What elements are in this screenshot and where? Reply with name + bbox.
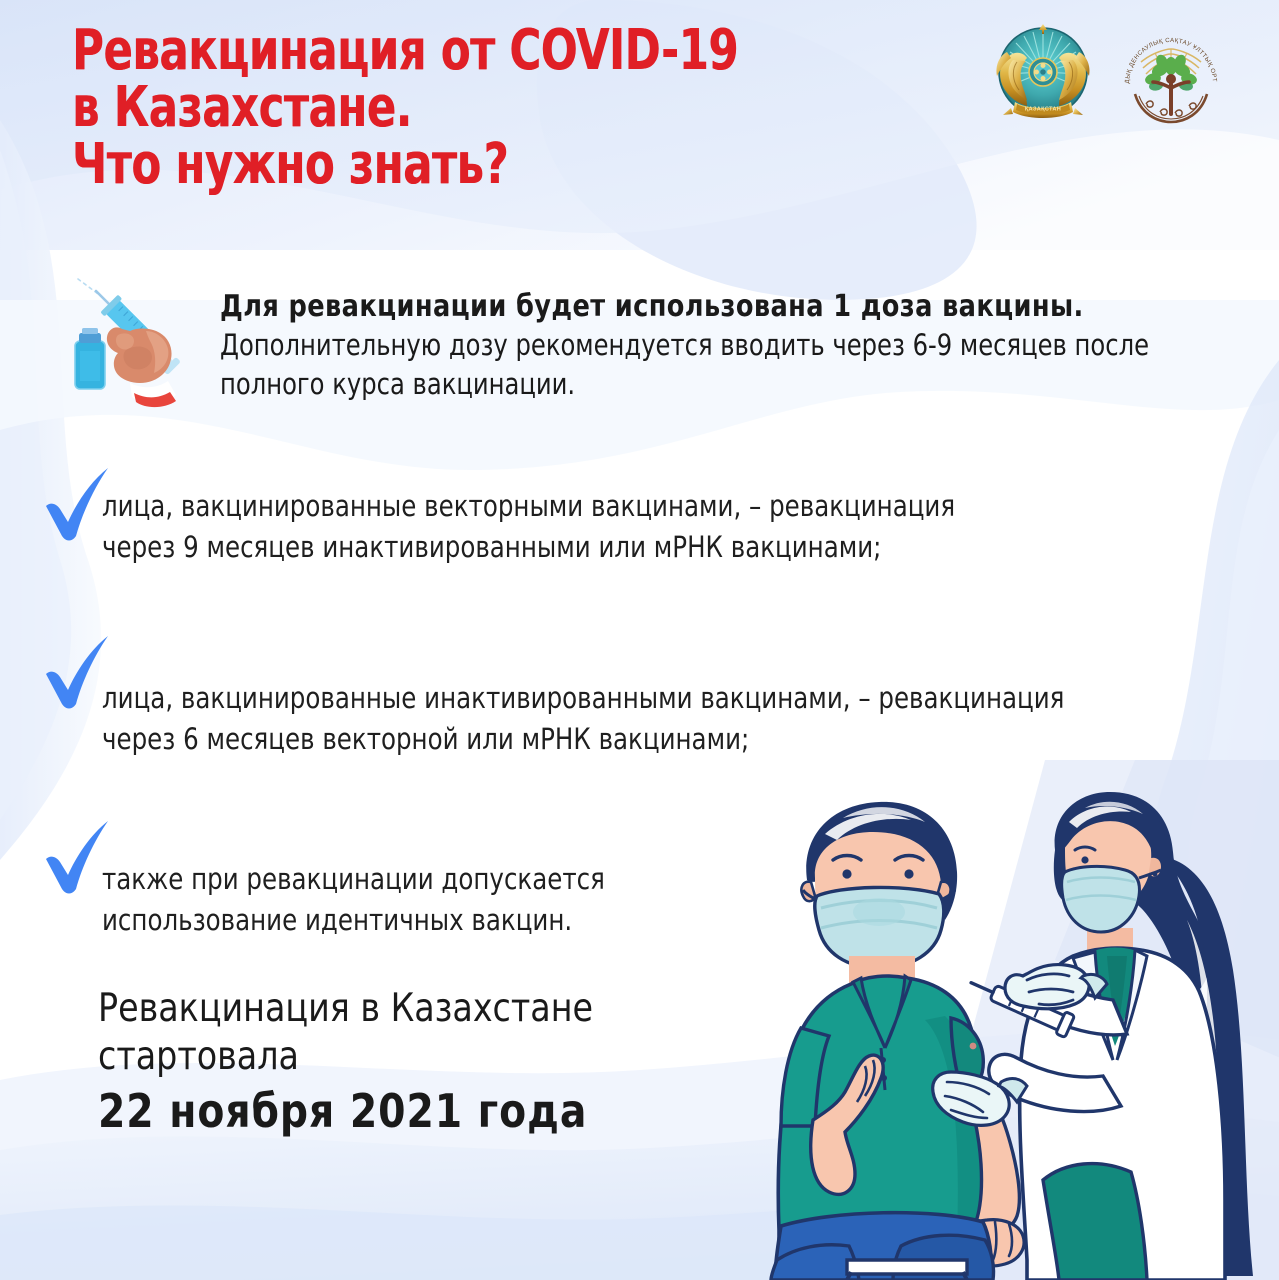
infographic-poster: Ревакцинация от COVID-19 в Казахстане. Ч… <box>0 0 1279 1280</box>
title-line-1: Ревакцинация от COVID-19 <box>72 22 777 79</box>
footer-note: Ревакцинация в Казахстане стартовала 22 … <box>98 985 698 1139</box>
start-date: 22 ноября 2021 года <box>98 1084 668 1139</box>
kazakhstan-coat-of-arms-logo: ҚАЗАҚСТАН <box>993 22 1093 127</box>
footer-line-1: Ревакцинация в Казахстане <box>98 985 668 1033</box>
list-item-label: лица, вакцинированные инактивированными … <box>102 678 1064 760</box>
list-item-label: лица, вакцинированные векторными вакцина… <box>102 486 955 568</box>
page-title: Ревакцинация от COVID-19 в Казахстане. Ч… <box>72 22 892 193</box>
hand-holding-syringe-icon <box>60 265 210 415</box>
doctor-vaccinating-seated-patient-illustration <box>755 760 1279 1280</box>
public-health-center-logo: ҚОҒАМДЫҚ ДЕНСАУЛЫҚ САҚТАУ ҰЛТТЫҚ ОРТАЛЫҒ… <box>1115 22 1227 134</box>
poster-header: Ревакцинация от COVID-19 в Казахстане. Ч… <box>0 0 1279 230</box>
svg-text:ҚОҒАМДЫҚ ДЕНСАУЛЫҚ САҚТАУ ҰЛТТ: ҚОҒАМДЫҚ ДЕНСАУЛЫҚ САҚТАУ ҰЛТТЫҚ ОРТАЛЫҒ… <box>1115 22 1218 84</box>
intro-body: Дополнительную дозу рекомендуется вводит… <box>220 326 1163 404</box>
list-item: лица, вакцинированные векторными вакцина… <box>36 462 1249 630</box>
footer-line-2: стартовала <box>98 1033 668 1081</box>
title-line-2: в Казахстане. <box>72 79 777 136</box>
intro-block: Для ревакцинации будет использована 1 до… <box>60 265 1234 415</box>
svg-text:ҚАЗАҚСТАН: ҚАЗАҚСТАН <box>1025 107 1061 113</box>
title-line-3: Что нужно знать? <box>72 136 777 193</box>
intro-headline: Для ревакцинации будет использована 1 до… <box>220 287 1183 326</box>
intro-text: Для ревакцинации будет использована 1 до… <box>220 265 1234 404</box>
logo-group: ҚАЗАҚСТАН ҚОҒАМДЫҚ ДЕНСАУЛЫҚ САҚТАУ ҰЛТТ… <box>993 22 1227 134</box>
list-item-label: также при ревакцинации допускается испол… <box>102 859 605 941</box>
